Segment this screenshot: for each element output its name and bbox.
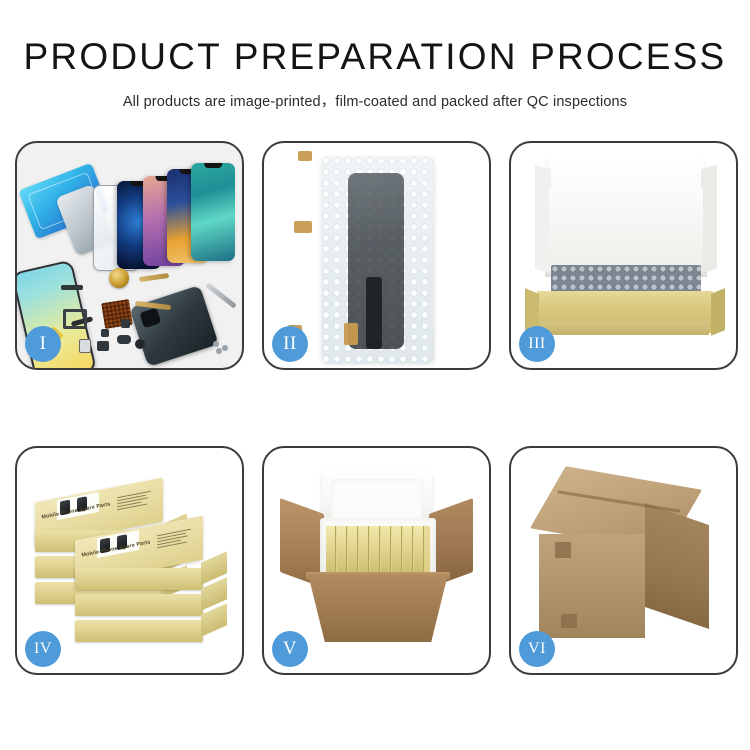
process-step-1[interactable]: I	[15, 141, 244, 370]
phone-back-housing-icon	[129, 285, 219, 367]
phone-display-4	[191, 163, 235, 261]
stacked-box-front-3	[75, 594, 203, 616]
process-step-6[interactable]: VI	[509, 446, 738, 675]
process-step-4[interactable]: Mobile Phone Spare Parts Mobile Phone Sp…	[15, 446, 244, 675]
small-part-icon	[121, 319, 130, 328]
carton-tape-icon	[555, 542, 571, 558]
packed-yellow-boxes-icon	[326, 526, 430, 574]
carton-tape-icon	[561, 614, 577, 628]
wrapped-flex-cable-icon	[366, 277, 382, 349]
process-step-5[interactable]: V	[262, 446, 491, 675]
step-badge-4: IV	[25, 631, 61, 667]
bubble-wrap-bag-icon	[322, 157, 434, 363]
step-badge-3: III	[519, 326, 555, 362]
flex-cable-icon	[139, 273, 169, 282]
speaker-coil-icon	[109, 268, 129, 288]
tweezers-icon	[205, 282, 236, 308]
tape-icon	[344, 323, 358, 345]
bubble-wrapped-contents-icon	[551, 265, 701, 293]
small-part-icon	[61, 285, 83, 290]
process-step-3[interactable]: III	[509, 141, 738, 370]
process-step-2[interactable]: II	[262, 141, 491, 370]
step-badge-5: V	[272, 631, 308, 667]
page-header: PRODUCT PREPARATION PROCESS All products…	[0, 0, 750, 130]
page-subtitle: All products are image-printed，film-coat…	[123, 90, 627, 111]
small-part-icon	[79, 339, 91, 353]
step-badge-6: VI	[519, 631, 555, 667]
notch-icon	[204, 163, 222, 168]
process-step-grid: I II III	[15, 141, 737, 675]
stacked-box-front-4	[75, 620, 203, 642]
yellow-box-front-icon	[541, 321, 709, 335]
screws-icon	[213, 341, 233, 353]
foam-sheet-icon	[549, 189, 703, 265]
small-part-icon	[117, 335, 131, 344]
small-part-icon	[135, 339, 145, 349]
sealed-carton-side-icon	[645, 503, 709, 629]
carton-body-icon	[308, 574, 448, 642]
page-title: PRODUCT PREPARATION PROCESS	[24, 38, 727, 77]
small-part-icon	[101, 329, 109, 337]
small-part-icon	[97, 341, 109, 351]
step-badge-1: I	[25, 326, 61, 362]
tape-icon	[298, 151, 312, 161]
small-part-icon	[63, 309, 87, 329]
step-badge-2: II	[272, 326, 308, 362]
stacked-box-front-2	[75, 568, 203, 590]
tape-icon	[294, 221, 312, 233]
